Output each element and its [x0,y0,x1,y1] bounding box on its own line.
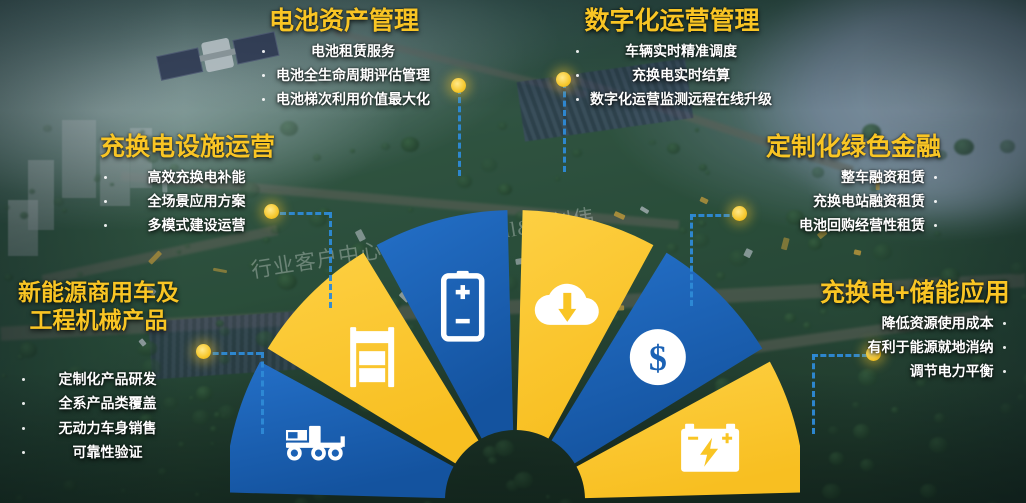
connector-dot-green-fin [732,206,747,221]
connector-dot-digital-ops [556,72,571,87]
bullet-item: 无动力车身销售 [18,421,179,436]
connector-line [329,212,332,308]
block-nev-product: 新能源商用车及 工程机械产品 定制化产品研发全系产品类覆盖无动力车身销售可靠性验… [18,278,179,470]
connector-line [261,352,264,434]
connector-line [280,212,330,215]
bullet-item: 有利于能源就地消纳 [820,340,1010,355]
block-title-line1: 新能源商用车及 [18,278,179,306]
connector-line [690,214,693,306]
block-green-finance: 定制化绿色金融 整车融资租赁充换电站融资租赁电池回购经营性租赁 [766,132,941,243]
block-battery-asset: 电池资产管理 电池租赁服务电池全生命周期评估管理电池梯次利用价值最大化 [258,6,430,117]
bullet-item: 电池回购经营性租赁 [766,218,941,233]
bullet-item: 全场景应用方案 [100,194,275,209]
bullet-item: 电池梯次利用价值最大化 [258,92,430,107]
bullet-list: 降低资源使用成本有利于能源就地消纳调节电力平衡 [820,316,1010,380]
bullet-item: 充换电实时结算 [572,68,772,83]
bullet-item: 充换电站融资租赁 [766,194,941,209]
connector-line [458,88,461,176]
block-title-line2: 工程机械产品 [18,306,179,334]
connector-dot-battery-asset [451,78,466,93]
block-title: 数字化运营管理 [572,6,772,37]
bullet-list: 车辆实时精准调度充换电实时结算数字化运营监测远程在线升级 [572,44,772,108]
bullet-list: 高效充换电补能全场景应用方案多模式建设运营 [100,170,275,234]
infographic-root: 行业客户中心&&刘伟. local&&刘伟 [0,0,1026,503]
block-title: 定制化绿色金融 [766,132,941,163]
bullet-item: 定制化产品研发 [18,372,179,387]
bullet-item: 降低资源使用成本 [820,316,1010,331]
block-title: 充换电+储能应用 [820,278,1010,309]
bullet-item: 全系产品类覆盖 [18,396,179,411]
bullet-item: 多模式建设运营 [100,218,275,233]
bullet-item: 电池全生命周期评估管理 [258,68,430,83]
block-title: 充换电设施运营 [100,132,275,163]
bullet-item: 调节电力平衡 [820,364,1010,379]
block-digital-ops: 数字化运营管理 车辆实时精准调度充换电实时结算数字化运营监测远程在线升级 [572,6,772,117]
connector-dot-nev-product [196,344,211,359]
connector-line [204,352,262,355]
bullet-list: 电池租赁服务电池全生命周期评估管理电池梯次利用价值最大化 [258,44,430,108]
block-title: 电池资产管理 [258,6,430,37]
bullet-item: 高效充换电补能 [100,170,275,185]
bullet-list: 定制化产品研发全系产品类覆盖无动力车身销售可靠性验证 [18,372,179,461]
connector-line [812,354,815,434]
segmented-fan-chart: $ [230,160,800,500]
bullet-item: 可靠性验证 [18,445,179,460]
bullet-item: 车辆实时精准调度 [572,44,772,59]
svg-text:$: $ [649,338,667,378]
block-swap-ops: 充换电设施运营 高效充换电补能全场景应用方案多模式建设运营 [100,132,275,243]
car-battery-bolt-icon [681,424,739,472]
bullet-item: 整车融资租赁 [766,170,941,185]
dollar-circle-icon: $ [630,329,686,385]
bullet-item: 电池租赁服务 [258,44,430,59]
connector-line [690,214,738,217]
bullet-list: 整车融资租赁充换电站融资租赁电池回购经营性租赁 [766,170,941,234]
block-storage: 充换电+储能应用 降低资源使用成本有利于能源就地消纳调节电力平衡 [820,278,1010,389]
connector-line [563,82,566,172]
bullet-item: 数字化运营监测远程在线升级 [572,92,772,107]
